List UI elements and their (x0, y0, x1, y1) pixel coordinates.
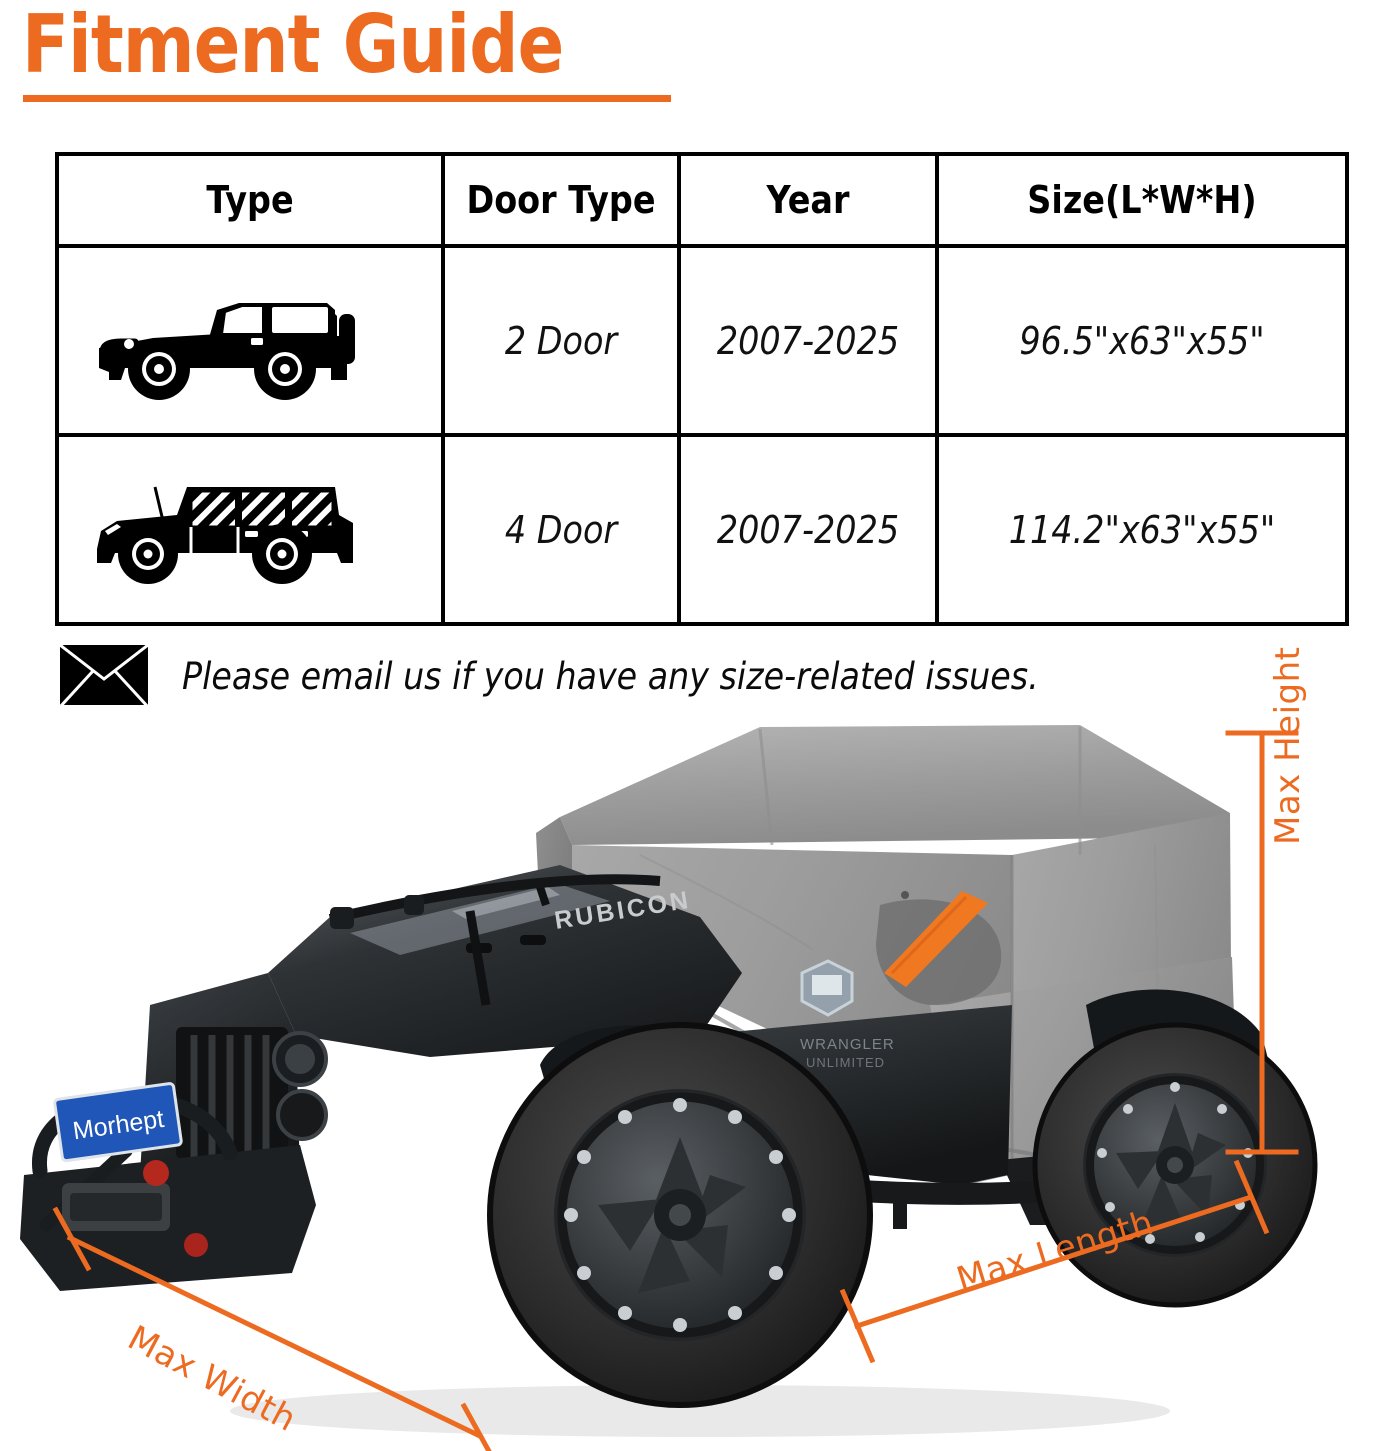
vehicle-type-cell (57, 246, 443, 435)
page-title: Fitment Guide (22, 4, 624, 86)
email-note: Please email us if you have any size-rel… (60, 645, 1134, 707)
front-wheel (490, 1025, 870, 1405)
vehicle-type-cell (57, 435, 443, 624)
jeep-with-cab-cover-photo: RUBICON (0, 705, 1393, 1451)
column-header-door-type: Door Type (457, 154, 665, 246)
column-header-year: Year (694, 154, 921, 246)
jeep-2door-icon (59, 248, 441, 433)
door-badge-text: WRANGLER (800, 1036, 895, 1053)
year-cell: 2007-2025 (694, 246, 921, 435)
fitment-table: Type Door Type Year Size(L*W*H) (55, 152, 1349, 626)
table-row: 4 Door 2007-2025 114.2"x63"x55" (57, 435, 1347, 624)
envelope-icon (60, 645, 148, 707)
product-photo-area: RUBICON (0, 705, 1393, 1451)
title-block: Fitment Guide (22, 4, 722, 102)
max-height-label: Max Height (1268, 647, 1308, 846)
email-note-text: Please email us if you have any size-rel… (182, 655, 1039, 698)
table-header-row: Type Door Type Year Size(L*W*H) (57, 154, 1347, 246)
column-header-type: Type (80, 154, 420, 246)
fitment-guide-page: Fitment Guide Type Door Type Year Size(L… (0, 0, 1393, 1451)
size-cell: 96.5"x63"x55" (962, 246, 1323, 435)
table-row: 2 Door 2007-2025 96.5"x63"x55" (57, 246, 1347, 435)
svg-text:UNLIMITED: UNLIMITED (806, 1055, 885, 1070)
jeep-4door-icon (59, 437, 441, 622)
title-underline (23, 95, 671, 102)
door-type-cell: 2 Door (457, 246, 665, 435)
door-type-cell: 4 Door (457, 435, 665, 624)
size-cell: 114.2"x63"x55" (962, 435, 1323, 624)
year-cell: 2007-2025 (694, 435, 921, 624)
column-header-size: Size(L*W*H) (962, 154, 1323, 246)
